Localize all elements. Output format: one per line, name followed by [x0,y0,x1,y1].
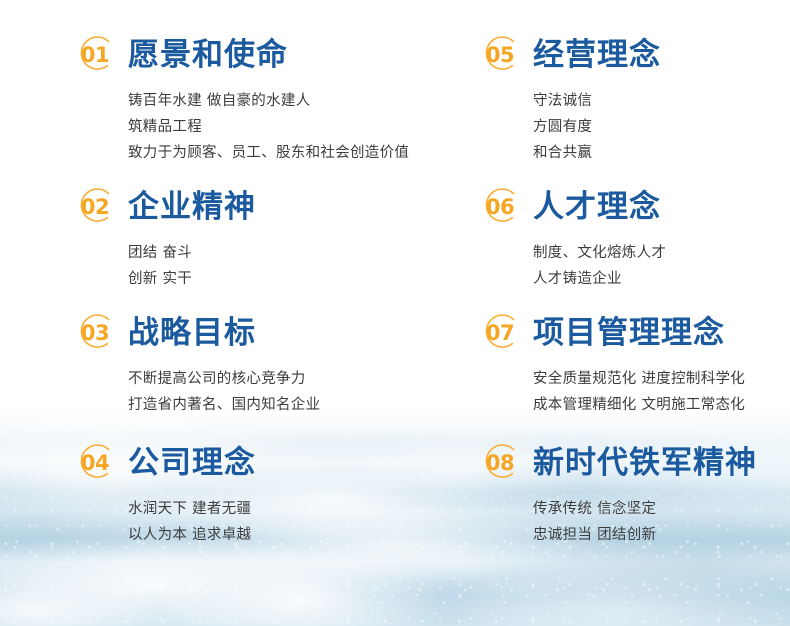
poster-content: 01 愿景和使命 铸百年水建 做自豪的水建人 筑精品工程 致力于为顾客、员工、股… [0,0,790,626]
section-01-heading: 01 愿景和使命 [72,30,432,80]
right-column: 05 经营理念 守法诚信 方圆有度 和合共赢 06 [395,0,790,626]
section-01-title: 愿景和使命 [128,40,288,71]
section-03-lines: 不断提高公司的核心竞争力 打造省内著名、国内知名企业 [72,366,432,418]
section-03-line-1: 不断提高公司的核心竞争力 [128,366,432,392]
section-04: 04 公司理念 水润天下 建者无疆 以人为本 追求卓越 [72,438,432,548]
section-06-line-2: 人才铸造企业 [533,266,790,292]
section-08-title: 新时代铁军精神 [533,448,757,479]
section-06-title: 人才理念 [533,192,661,223]
section-06-line-1: 制度、文化熔炼人才 [533,240,790,266]
section-02-title: 企业精神 [128,192,256,223]
section-06-number: 06 [486,197,514,218]
section-08-lines: 传承传统 信念坚定 忠诚担当 团结创新 [477,496,790,548]
section-05-number: 05 [486,45,514,66]
section-03-heading: 03 战略目标 [72,308,432,358]
section-04-lines: 水润天下 建者无疆 以人为本 追求卓越 [72,496,432,548]
section-02-lines: 团结 奋斗 创新 实干 [72,240,432,292]
number-badge-03: 03 [72,310,118,356]
section-05-title: 经营理念 [533,40,661,71]
section-07-line-1: 安全质量规范化 进度控制科学化 [533,366,790,392]
section-05-heading: 05 经营理念 [477,30,790,80]
section-08-number: 08 [486,453,514,474]
section-07: 07 项目管理理念 安全质量规范化 进度控制科学化 成本管理精细化 文明施工常态… [477,308,790,418]
section-07-number: 07 [486,323,514,344]
section-04-heading: 04 公司理念 [72,438,432,488]
section-05-line-3: 和合共赢 [533,140,790,166]
section-08: 08 新时代铁军精神 传承传统 信念坚定 忠诚担当 团结创新 [477,438,790,548]
number-badge-06: 06 [477,184,523,230]
section-06-lines: 制度、文化熔炼人才 人才铸造企业 [477,240,790,292]
section-04-line-1: 水润天下 建者无疆 [128,496,432,522]
section-01-line-1: 铸百年水建 做自豪的水建人 [128,88,432,114]
section-08-line-1: 传承传统 信念坚定 [533,496,790,522]
section-01-number: 01 [81,45,109,66]
section-02-line-2: 创新 实干 [128,266,432,292]
section-02-number: 02 [81,197,109,218]
section-03-number: 03 [81,323,109,344]
section-02-line-1: 团结 奋斗 [128,240,432,266]
corporate-culture-poster: 01 愿景和使命 铸百年水建 做自豪的水建人 筑精品工程 致力于为顾客、员工、股… [0,0,790,626]
section-06: 06 人才理念 制度、文化熔炼人才 人才铸造企业 [477,182,790,292]
section-01-line-2: 筑精品工程 [128,114,432,140]
section-03-title: 战略目标 [128,318,256,349]
number-badge-01: 01 [72,32,118,78]
number-badge-08: 08 [477,440,523,486]
number-badge-04: 04 [72,440,118,486]
section-05: 05 经营理念 守法诚信 方圆有度 和合共赢 [477,30,790,166]
section-05-line-2: 方圆有度 [533,114,790,140]
section-02-heading: 02 企业精神 [72,182,432,232]
left-column: 01 愿景和使命 铸百年水建 做自豪的水建人 筑精品工程 致力于为顾客、员工、股… [0,0,395,626]
section-07-line-2: 成本管理精细化 文明施工常态化 [533,392,790,418]
section-04-title: 公司理念 [128,448,256,479]
number-badge-07: 07 [477,310,523,356]
section-01-line-3: 致力于为顾客、员工、股东和社会创造价值 [128,140,432,166]
section-05-lines: 守法诚信 方圆有度 和合共赢 [477,88,790,166]
section-07-lines: 安全质量规范化 进度控制科学化 成本管理精细化 文明施工常态化 [477,366,790,418]
number-badge-02: 02 [72,184,118,230]
section-05-line-1: 守法诚信 [533,88,790,114]
section-08-heading: 08 新时代铁军精神 [477,438,790,488]
number-badge-05: 05 [477,32,523,78]
section-07-heading: 07 项目管理理念 [477,308,790,358]
section-07-title: 项目管理理念 [533,318,725,349]
section-02: 02 企业精神 团结 奋斗 创新 实干 [72,182,432,292]
section-06-heading: 06 人才理念 [477,182,790,232]
section-03: 03 战略目标 不断提高公司的核心竞争力 打造省内著名、国内知名企业 [72,308,432,418]
section-03-line-2: 打造省内著名、国内知名企业 [128,392,432,418]
section-08-line-2: 忠诚担当 团结创新 [533,522,790,548]
section-01-lines: 铸百年水建 做自豪的水建人 筑精品工程 致力于为顾客、员工、股东和社会创造价值 [72,88,432,166]
section-04-line-2: 以人为本 追求卓越 [128,522,432,548]
section-01: 01 愿景和使命 铸百年水建 做自豪的水建人 筑精品工程 致力于为顾客、员工、股… [72,30,432,166]
section-04-number: 04 [81,453,109,474]
